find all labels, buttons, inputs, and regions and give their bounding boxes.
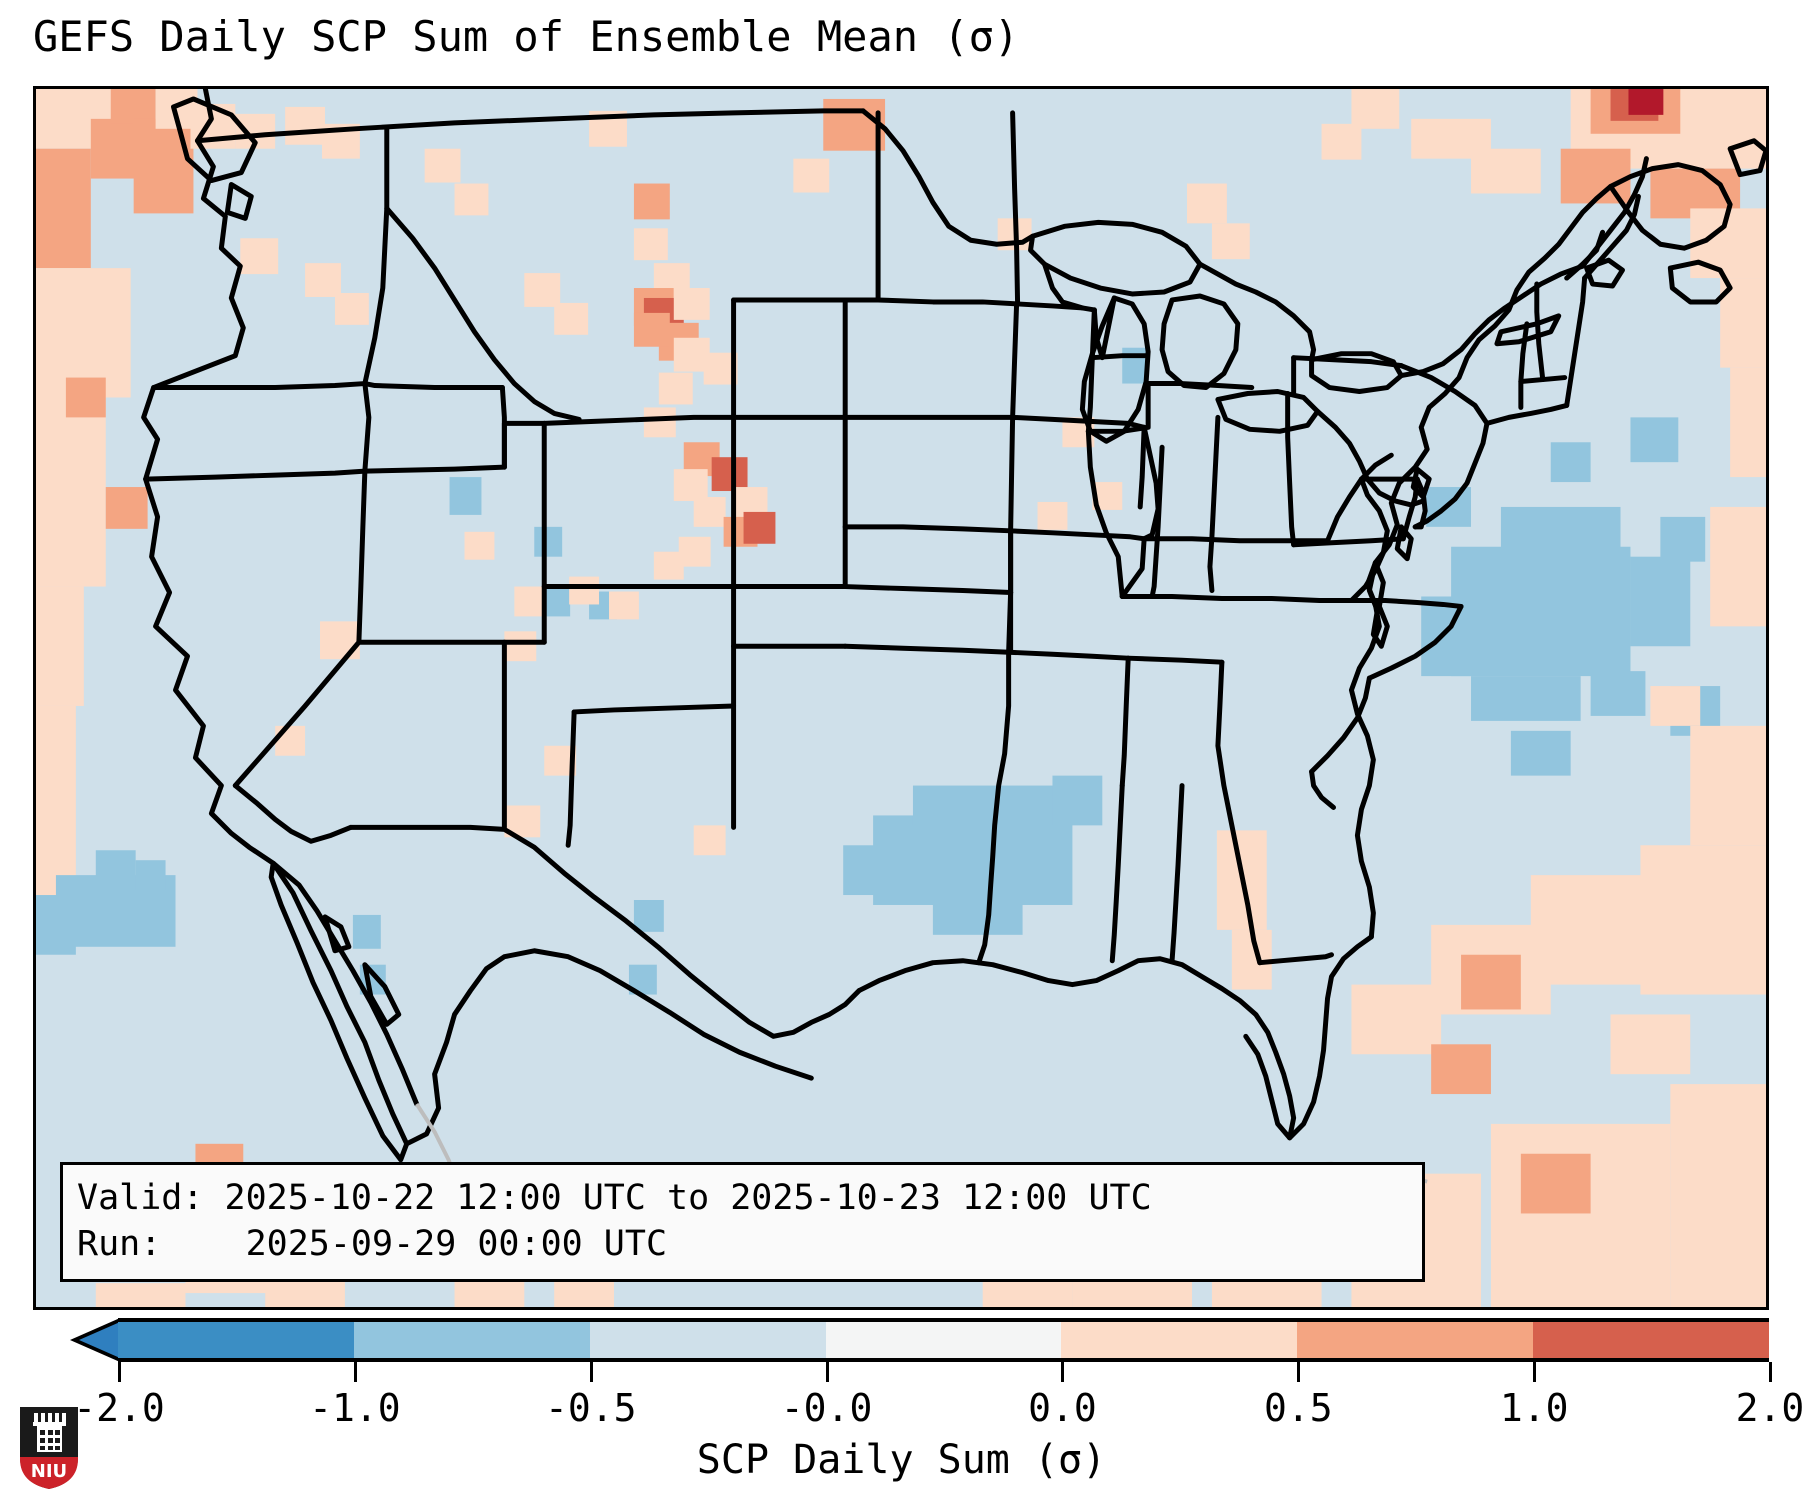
colorbar-tick-5 (1297, 1362, 1300, 1382)
colorbar-segment-6 (1533, 1322, 1769, 1358)
colorbar-tick-6 (1533, 1362, 1536, 1382)
niu-logo: NIU (18, 1405, 80, 1491)
niu-logo-text: NIU (31, 1461, 67, 1482)
info-valid-line: Valid: 2025-10-22 12:00 UTC to 2025-10-2… (77, 1175, 1408, 1221)
colorbar-tick-3 (826, 1362, 829, 1382)
map-heatmap-canvas (36, 89, 1766, 1307)
colorbar-segment-2 (590, 1322, 826, 1358)
colorbar-segment-5 (1297, 1322, 1533, 1358)
colorbar-segment-3 (826, 1322, 1062, 1358)
colorbar-tick-7 (1769, 1362, 1772, 1382)
info-run-line: Run: 2025-09-29 00:00 UTC (77, 1221, 1408, 1267)
colorbar-tick-label-0: -2.0 (73, 1386, 165, 1430)
map-frame: Valid: 2025-10-22 12:00 UTC to 2025-10-2… (33, 86, 1769, 1310)
colorbar-tick-label-3: -0.0 (781, 1386, 873, 1430)
colorbar-tick-0 (118, 1362, 121, 1382)
colorbar-segment-0 (118, 1322, 354, 1358)
colorbar-tick-label-1: -1.0 (309, 1386, 401, 1430)
colorbar-tick-label-2: -0.5 (545, 1386, 637, 1430)
colorbar-tick-1 (354, 1362, 357, 1382)
colorbar-tick-label-6: 1.0 (1500, 1386, 1569, 1430)
info-box: Valid: 2025-10-22 12:00 UTC to 2025-10-2… (60, 1162, 1425, 1282)
colorbar-segment-4 (1061, 1322, 1297, 1358)
colorbar-tick-label-5: 0.5 (1264, 1386, 1333, 1430)
colorbar-axis-label: SCP Daily Sum (σ) (0, 1437, 1803, 1483)
colorbar-segments (118, 1322, 1769, 1358)
colorbar: -2.0-1.0-0.5-0.00.00.51.02.0 (33, 1318, 1769, 1372)
colorbar-segment-1 (354, 1322, 590, 1358)
colorbar-tick-2 (590, 1362, 593, 1382)
colorbar-tick-label-7: 2.0 (1736, 1386, 1803, 1430)
colorbar-under-arrow (79, 1322, 120, 1358)
colorbar-tick-label-4: 0.0 (1028, 1386, 1097, 1430)
colorbar-tick-4 (1061, 1362, 1064, 1382)
page-title: GEFS Daily SCP Sum of Ensemble Mean (σ) (33, 12, 1019, 61)
